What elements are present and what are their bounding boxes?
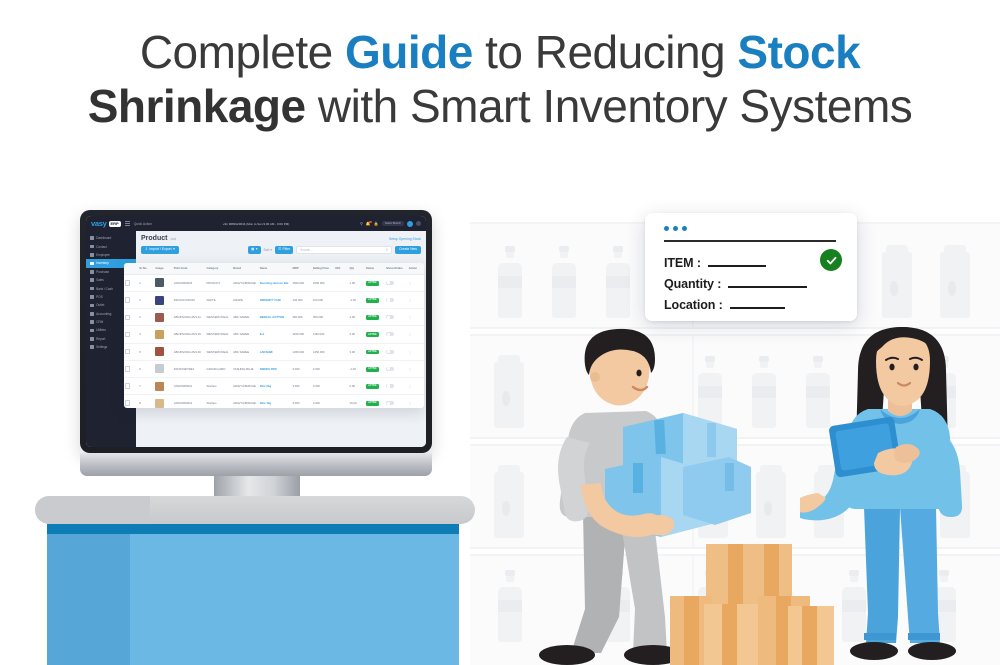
row-checkbox[interactable] [124, 343, 138, 360]
col-status[interactable]: Status [365, 263, 385, 274]
cell-sr-no: 8 [138, 395, 154, 408]
bell-icon[interactable]: 🔔 [366, 222, 371, 226]
status-badge: ACTIVE [366, 281, 379, 286]
cell-action[interactable]: ⋮ [408, 274, 424, 291]
status-badge: ACTIVE [366, 401, 379, 406]
col-sr-no[interactable]: Sr No. [138, 263, 154, 274]
cell-roi [334, 343, 348, 360]
row-checkbox[interactable] [124, 395, 138, 408]
cell-status: ACTIVE [365, 343, 385, 360]
report-icon [90, 337, 94, 341]
cell-category: WESTERN DEAL [206, 326, 233, 343]
support-contact-text: +91 9689123044 (Mon to Sun 9:30 AM - 9:0… [223, 222, 289, 226]
accounting-icon [90, 312, 94, 316]
cell-category: Stitches [206, 395, 233, 408]
row-checkbox[interactable] [124, 309, 138, 326]
breadcrumb: Product List Setup Opening Stock [141, 235, 421, 242]
cell-name[interactable]: BENGAL COTTON [259, 309, 292, 326]
create-new-label: Create New [399, 248, 417, 251]
shelf-bottle [752, 356, 776, 428]
sidebar-item-label: Contact [96, 245, 107, 249]
sidebar-item-label: Dashboard [96, 236, 111, 240]
sidebar-item-contact[interactable]: Contact [86, 242, 136, 250]
cell-qty: 3.00 [349, 343, 365, 360]
card-dots-icon [664, 226, 687, 231]
cell-brand: GRAPE [232, 291, 259, 308]
cell-action[interactable]: ⋮ [408, 291, 424, 308]
cell-action[interactable]: ⋮ [408, 360, 424, 377]
col-show-online[interactable]: Show Online [385, 263, 407, 274]
cell-category: WESTERN DEAL [206, 343, 233, 360]
cardboard-box [704, 604, 760, 665]
filter-icon: ☰ [278, 248, 281, 251]
table-toolbar: ⇩ Import / Export ▾ ▦▾ Sort▾ ☰Filter Sea… [141, 246, 421, 254]
cell-qty: 1.00 [349, 274, 365, 291]
create-new-button[interactable]: Create New [395, 246, 421, 254]
cell-brand: ARAVYA/MIRAGE [232, 377, 259, 394]
col-brand[interactable]: Brand [232, 263, 259, 274]
logo-text: vasy [91, 219, 107, 228]
col-selling[interactable]: Selling Price [312, 263, 334, 274]
col-checkbox [124, 263, 138, 274]
cell-name[interactable]: SERENITY OUR [259, 291, 292, 308]
show-online-toggle [386, 298, 394, 302]
chevron-down-icon: ▾ [270, 248, 272, 252]
poster-canvas: Complete Guide to Reducing Stock Shrinka… [0, 0, 1000, 665]
show-online-toggle [386, 384, 394, 388]
view-mode-button[interactable]: ▦▾ [248, 246, 260, 254]
cell-image[interactable] [154, 309, 172, 326]
search-placeholder: Search... [300, 248, 313, 252]
cardboard-box-stack [670, 544, 850, 665]
cell-status: ACTIVE [365, 326, 385, 343]
cell-qty: -1.00 [349, 291, 365, 308]
col-image[interactable]: Image [154, 263, 172, 274]
table-body: 1VASO0000015PRODUCTARAVYA/MIRAGEDooming … [124, 274, 424, 408]
cell-status: ACTIVE [365, 395, 385, 408]
logo-badge: ERP [109, 221, 121, 227]
import-export-button[interactable]: ⇩ Import / Export ▾ [141, 246, 179, 254]
cell-mrp: 3.000 [291, 360, 311, 377]
purchase-icon [90, 270, 94, 274]
sidebar-item-label: Inventory [96, 261, 109, 265]
cell-print-code: DRUGOOO0015 [173, 291, 206, 308]
shelf-bottle [552, 246, 576, 318]
cell-selling-price: 1500.000 [312, 274, 334, 291]
chevron-down-icon: ▾ [256, 248, 258, 251]
cell-sr-no: 3 [138, 309, 154, 326]
table-row[interactable]: 2DRUGOOO0015WHITEGRAPESERENITY OUR140.00… [124, 291, 424, 308]
desk-accent-strip [47, 524, 459, 534]
cell-action[interactable]: ⋮ [408, 395, 424, 408]
col-print-code[interactable]: Print Code [173, 263, 206, 274]
cell-name[interactable]: Rice 2kg [259, 377, 292, 394]
sidebar-item-label: Accounting [96, 312, 111, 316]
cell-show-online[interactable] [385, 377, 407, 394]
cell-roi [334, 360, 348, 377]
cell-selling-price: 3.000 [312, 377, 334, 394]
cell-action[interactable]: ⋮ [408, 326, 424, 343]
cell-print-code: ABOINV2024-25/4,31 [173, 309, 206, 326]
cell-qty: 16.00 [349, 395, 365, 408]
item-entry-card[interactable]: ITEM : Quantity : Location : [645, 213, 857, 321]
location-blank-line[interactable] [730, 307, 785, 309]
cell-image[interactable] [154, 274, 172, 291]
table-row[interactable]: 5ABOINV2024-25/4,30WESTERN DEALABC SAREE… [124, 343, 424, 360]
cell-mrp: 1500.000 [291, 274, 311, 291]
sidebar-item-dashboard[interactable]: Dashboard [86, 234, 136, 242]
sidebar-item-label: Outlet [96, 303, 104, 307]
cell-mrp: 3.000 [291, 395, 311, 408]
cell-roi [334, 395, 348, 408]
quick-action-label[interactable]: Quick Action [134, 222, 152, 226]
status-badge: ACTIVE [366, 350, 379, 355]
product-thumbnail [155, 364, 164, 373]
cell-name[interactable]: SERIES PRO [259, 360, 292, 377]
cell-name[interactable]: Dooming Horizon Blu [259, 274, 292, 291]
cell-image[interactable] [154, 360, 172, 377]
cell-action[interactable]: ⋮ [408, 309, 424, 326]
cell-name[interactable]: ILA [259, 326, 292, 343]
cell-selling-price: 120.000 [312, 291, 334, 308]
gear-icon[interactable] [416, 221, 421, 226]
status-badge: ACTIVE [366, 315, 379, 320]
page-title: Complete Guide to Reducing Stock Shrinka… [0, 28, 1000, 131]
cell-show-online[interactable] [385, 343, 407, 360]
show-online-toggle [386, 367, 394, 371]
status-badge: ACTIVE [366, 384, 379, 389]
cell-roi [334, 274, 348, 291]
table-row[interactable]: 7VASO0000021StitchesARAVYA/MIRAGERice 2k… [124, 377, 424, 394]
row-checkbox[interactable] [124, 326, 138, 343]
search-input[interactable]: Search... ⚲ [296, 246, 392, 254]
cell-category: WESTERN DEAL [206, 309, 233, 326]
outlet-icon [90, 304, 94, 308]
cell-sr-no: 6 [138, 360, 154, 377]
cell-mrp: 1150.000 [291, 326, 311, 343]
cell-qty: 6.00 [349, 377, 365, 394]
product-thumbnail [155, 278, 164, 287]
cell-mrp: 350.000 [291, 309, 311, 326]
shelf-carton [756, 472, 786, 538]
cell-show-online[interactable] [385, 360, 407, 377]
cell-status: ACTIVE [365, 274, 385, 291]
show-online-toggle [386, 332, 394, 336]
topbar-actions: ⚲ 🔔 🔒 Select Branch [360, 221, 421, 227]
headline-word-shrinkage: Shrinkage [88, 80, 306, 132]
cell-category: GRAND HARD [206, 360, 233, 377]
show-online-toggle [386, 401, 394, 405]
dashboard-icon [90, 236, 94, 240]
sort-selector[interactable]: Sort▾ [264, 248, 272, 252]
cell-status: ACTIVE [365, 291, 385, 308]
product-thumbnail [155, 330, 164, 339]
cell-sr-no: 7 [138, 377, 154, 394]
cell-brand: ARAVYA/MIRAGE [232, 395, 259, 408]
sidebar-item-label: POS [96, 295, 103, 299]
cell-qty: 4.00 [349, 309, 365, 326]
cell-action[interactable]: ⋮ [408, 377, 424, 394]
cell-sr-no: 2 [138, 291, 154, 308]
cell-name[interactable]: Rice 1kg [259, 395, 292, 408]
employee-icon [90, 253, 94, 257]
table-row[interactable]: 6KRUDO00VRE1GRAND HARDVASHISH-BLUESERIES… [124, 360, 424, 377]
dashboard-topbar: vasy ERP Quick Action +91 9689123044 (Mo… [86, 216, 426, 231]
cell-status: ACTIVE [365, 377, 385, 394]
cell-sr-no: 1 [138, 274, 154, 291]
product-thumbnail [155, 296, 164, 305]
contact-icon [90, 245, 94, 249]
cell-print-code: VASO0000015 [173, 274, 206, 291]
location-label: Location : [664, 298, 723, 312]
cell-mrp: 3.000 [291, 377, 311, 394]
headline-word-to-reducing: to Reducing [473, 26, 738, 78]
cell-sr-no: 5 [138, 343, 154, 360]
col-roi[interactable]: ROI [334, 263, 348, 274]
shelf-carton [882, 252, 912, 318]
avatar[interactable] [407, 221, 413, 227]
sidebar-item-label: Sales [96, 278, 104, 282]
cell-status: ACTIVE [365, 309, 385, 326]
monitor-screen: vasy ERP Quick Action +91 9689123044 (Mo… [86, 216, 426, 447]
cell-show-online[interactable] [385, 326, 407, 343]
search-icon[interactable]: ⚲ [386, 248, 388, 252]
table-row[interactable]: 4ABOINV2024-25/4,29WESTERN DEALABC SAREE… [124, 326, 424, 343]
bank-icon [90, 287, 94, 291]
row-checkbox[interactable] [124, 291, 138, 308]
topbar-center: +91 9689123044 (Mon to Sun 9:30 AM - 9:0… [156, 222, 356, 226]
product-thumbnail [155, 313, 164, 322]
cell-roi [334, 326, 348, 343]
cell-print-code: KRUDO00VRE1 [173, 360, 206, 377]
cell-print-code: VASO0000021 [173, 377, 206, 394]
table-row[interactable]: 3ABOINV2024-25/4,31WESTERN DEALABC SAREE… [124, 309, 424, 326]
product-thumbnail [155, 382, 164, 391]
cardboard-box [788, 606, 834, 665]
cell-show-online[interactable] [385, 274, 407, 291]
cell-selling-price: 1450.000 [312, 343, 334, 360]
sidebar-item-label: CRM [96, 320, 103, 324]
cell-category: Stitches [206, 377, 233, 394]
sidebar-item-label: Report [96, 337, 105, 341]
table-header-row: Sr No. Image Print Code Category Brand N… [124, 263, 424, 274]
cell-brand: ABC SAREE [232, 326, 259, 343]
quantity-blank-line[interactable] [728, 286, 807, 288]
product-table: Sr No. Image Print Code Category Brand N… [124, 263, 424, 408]
shelf-bottle [498, 246, 522, 318]
cell-brand: VASHISH-BLUE [232, 360, 259, 377]
cell-brand: ABC SAREE [232, 309, 259, 326]
cell-print-code: ABOINV2024-25/4,30 [173, 343, 206, 360]
cell-category: WHITE [206, 291, 233, 308]
cell-roi [334, 377, 348, 394]
cell-image[interactable] [154, 377, 172, 394]
status-badge: ACTIVE [366, 298, 379, 303]
cell-image[interactable] [154, 326, 172, 343]
cell-qty: -1.00 [349, 360, 365, 377]
sidebar-item-label: Utilities [96, 328, 106, 332]
pos-icon [90, 295, 94, 299]
cell-roi [334, 309, 348, 326]
cell-category: PRODUCT [206, 274, 233, 291]
desk-with-monitor: vasy ERP Quick Action +91 9689123044 (Mo… [25, 210, 485, 665]
field-row-location[interactable]: Location : [664, 291, 854, 312]
sidebar-item-label: Bank / Cash [96, 287, 113, 291]
sort-label: Sort [264, 248, 270, 252]
cell-print-code: VASO0000012 [173, 395, 206, 408]
cell-selling-price: 3.000 [312, 395, 334, 408]
computer-monitor: vasy ERP Quick Action +91 9689123044 (Mo… [80, 210, 432, 453]
crm-icon [90, 320, 94, 324]
cell-name[interactable]: LAKSHMI [259, 343, 292, 360]
monitor-chin [80, 453, 432, 476]
sidebar-item-label: Employee [96, 253, 110, 257]
headline-word-guide: Guide [345, 26, 473, 78]
show-online-toggle [386, 315, 394, 319]
cell-qty: 2.00 [349, 326, 365, 343]
cell-selling-price: 3.000 [312, 360, 334, 377]
col-action[interactable]: Action [408, 263, 424, 274]
table-row[interactable]: 8VASO0000012StitchesARAVYA/MIRAGERice 1k… [124, 395, 424, 408]
product-table-card: Sr No. Image Print Code Category Brand N… [124, 263, 424, 408]
cell-selling-price: 1150.000 [312, 326, 334, 343]
sidebar-item-label: Settings [96, 345, 107, 349]
item-blank-line[interactable] [708, 265, 766, 267]
desk-surface [35, 496, 475, 524]
headline-line-1: Complete Guide to Reducing Stock [0, 28, 1000, 78]
cell-roi [334, 291, 348, 308]
sales-icon [90, 278, 94, 282]
import-export-label: Import / Export [149, 248, 171, 251]
cell-print-code: ABOINV2024-25/4,29 [173, 326, 206, 343]
cell-show-online[interactable] [385, 309, 407, 326]
status-badge: ACTIVE [366, 332, 379, 337]
headline-word-tail: with Smart Inventory Systems [306, 80, 913, 132]
page-heading: Product [141, 235, 167, 242]
product-thumbnail [155, 399, 164, 408]
desk-side-panel [47, 534, 130, 665]
desk-surface-shade [35, 496, 150, 524]
table-row[interactable]: 1VASO0000015PRODUCTARAVYA/MIRAGEDooming … [124, 274, 424, 291]
check-circle-icon [820, 249, 842, 271]
headline-word-complete: Complete [140, 26, 345, 78]
item-label: ITEM : [664, 256, 701, 270]
cell-brand: ARAVYA/MIRAGE [232, 274, 259, 291]
upload-icon: ⇩ [145, 248, 148, 251]
col-category[interactable]: Category [206, 263, 233, 274]
filter-label: Filter [283, 248, 291, 251]
headline-word-stock: Stock [737, 26, 860, 78]
card-divider [664, 240, 836, 242]
headline-line-2: Shrinkage with Smart Inventory Systems [0, 82, 1000, 132]
utilities-icon [90, 329, 94, 333]
product-thumbnail [155, 347, 164, 356]
col-name[interactable]: Name [259, 263, 292, 274]
lock-icon[interactable]: 🔒 [374, 222, 379, 226]
app-logo[interactable]: vasy ERP [91, 219, 121, 228]
row-checkbox[interactable] [124, 274, 138, 291]
page-subheading: List [170, 237, 175, 241]
col-mrp[interactable]: MRP [291, 263, 311, 274]
cell-mrp: 1450.000 [291, 343, 311, 360]
col-qty[interactable]: Qty [349, 263, 365, 274]
erp-dashboard: vasy ERP Quick Action +91 9689123044 (Mo… [86, 216, 426, 447]
cell-selling-price: 350.000 [312, 309, 334, 326]
status-badge: ACTIVE [366, 367, 379, 372]
cell-brand: ABC SAREE [232, 343, 259, 360]
search-icon[interactable]: ⚲ [360, 222, 363, 226]
sidebar-item-label: Purchase [96, 270, 109, 274]
sidebar-item-employee[interactable]: Employee [86, 251, 136, 259]
shelf-carton [940, 252, 970, 318]
row-checkbox[interactable] [124, 360, 138, 377]
inventory-icon [90, 262, 94, 266]
cell-action[interactable]: ⋮ [408, 343, 424, 360]
row-checkbox[interactable] [124, 377, 138, 394]
show-online-toggle [386, 350, 394, 354]
cell-show-online[interactable] [385, 291, 407, 308]
cell-image[interactable] [154, 395, 172, 408]
quantity-label: Quantity : [664, 277, 721, 291]
cell-image[interactable] [154, 291, 172, 308]
cell-status: ACTIVE [365, 360, 385, 377]
cell-sr-no: 4 [138, 326, 154, 343]
setup-opening-stock-link[interactable]: Setup Opening Stock [389, 237, 421, 241]
chevron-down-icon: ▾ [173, 248, 175, 251]
cell-show-online[interactable] [385, 395, 407, 408]
cell-image[interactable] [154, 343, 172, 360]
cell-mrp: 140.000 [291, 291, 311, 308]
hamburger-icon[interactable] [125, 221, 130, 226]
show-online-toggle [386, 281, 394, 285]
branch-selector[interactable]: Select Branch [382, 221, 404, 226]
shelf-bottle [606, 246, 630, 318]
filter-button[interactable]: ☰Filter [275, 246, 293, 254]
grid-icon: ▦ [251, 248, 254, 251]
field-row-quantity[interactable]: Quantity : [664, 270, 854, 291]
settings-icon [90, 345, 94, 349]
